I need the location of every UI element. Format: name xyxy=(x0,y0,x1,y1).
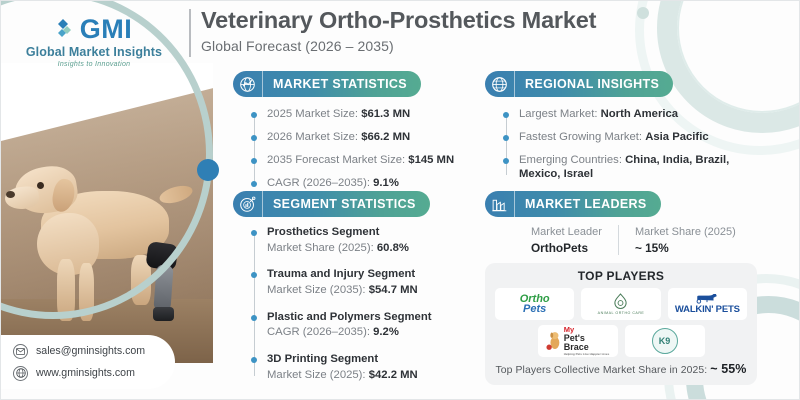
target-chart-icon xyxy=(233,191,263,217)
market-leader-column: Market Leader OrthoPets xyxy=(501,225,618,255)
item-heading: Plastic and Polymers Segment xyxy=(267,310,464,325)
logo-tagline: Insights to Innovation xyxy=(58,61,131,68)
player-logo-animal-ortho-care[interactable]: ANIMAL ORTHO CARE xyxy=(581,288,660,320)
list-item: Fastest Growing Market: Asia Pacific xyxy=(501,130,751,144)
item-label: Fastest Growing Market: xyxy=(519,131,645,143)
player-logo-walkin-pets[interactable]: WALKIN' PETS xyxy=(668,288,747,320)
section-header-market-statistics: MARKET STATISTICS xyxy=(233,71,421,97)
list-item: 2035 Forecast Market Size: $145 MN xyxy=(249,153,464,167)
player-logo-orthopets[interactable]: Ortho Pets xyxy=(495,288,574,320)
column-header: Market Leader xyxy=(531,225,602,239)
item-label: 2025 Market Size: xyxy=(267,108,361,120)
droplet-icon xyxy=(613,293,628,310)
top-players-title: TOP PLAYERS xyxy=(495,269,747,283)
item-value: Asia Pacific xyxy=(645,131,708,143)
contact-email-row[interactable]: sales@gminsights.com xyxy=(13,344,175,359)
market-leaders-table: Market Leader OrthoPets Market Share (20… xyxy=(501,225,752,255)
contact-website-row[interactable]: www.gminsights.com xyxy=(13,366,175,381)
item-label: Largest Market: xyxy=(519,108,601,120)
item-label: Emerging Countries: xyxy=(519,154,625,166)
globe-chart-icon xyxy=(233,71,263,97)
decorative-dot-icon xyxy=(637,7,649,19)
player-logo-caption: WALKIN' PETS xyxy=(675,304,740,315)
section-header-market-leaders: MARKET LEADERS xyxy=(485,191,661,217)
top-players-panel: TOP PLAYERS Ortho Pets ANIMAL ORTHO CARE xyxy=(485,263,757,385)
footer-value: ~ 55% xyxy=(710,362,746,376)
section-header-segment-statistics: SEGMENT STATISTICS xyxy=(233,191,430,217)
top-players-row-1: Ortho Pets ANIMAL ORTHO CARE WALKIN' PET… xyxy=(495,288,747,320)
decorative-blue-dot-icon xyxy=(197,159,219,181)
column-header: Market Share (2025) xyxy=(635,225,736,239)
contact-website: www.gminsights.com xyxy=(36,367,135,379)
item-label: CAGR (2026–2035): xyxy=(267,326,373,338)
column-value: ~ 15% xyxy=(635,241,736,255)
item-label: CAGR (2026–2035): xyxy=(267,177,373,189)
player-logo-k9-orthotics[interactable]: K9 xyxy=(625,325,705,357)
globe-icon xyxy=(485,71,515,97)
gmi-logo: GMI Global Market Insights Insights to I… xyxy=(9,11,179,73)
envelope-icon xyxy=(13,344,28,359)
section-label: REGIONAL INSIGHTS xyxy=(525,77,659,91)
list-item: 2025 Market Size: $61.3 MN xyxy=(249,107,464,121)
player-logo-caption: ANIMAL ORTHO CARE xyxy=(598,311,645,315)
list-item: Emerging Countries: China, India, Brazil… xyxy=(501,153,751,181)
list-item: Prosthetics Segment Market Share (2025):… xyxy=(249,225,464,255)
player-logo-caption: K9 xyxy=(652,328,678,354)
list-item: Plastic and Polymers Segment CAGR (2026–… xyxy=(249,310,464,340)
column-value: OrthoPets xyxy=(531,241,602,255)
item-value: North America xyxy=(601,108,678,120)
player-logo-part2: Pets xyxy=(523,303,546,315)
section-label: MARKET STATISTICS xyxy=(273,77,407,91)
market-statistics-list: 2025 Market Size: $61.3 MN 2026 Market S… xyxy=(249,107,464,190)
item-label: Market Share (2025): xyxy=(267,242,377,254)
item-label: 2035 Forecast Market Size: xyxy=(267,154,408,166)
market-share-column: Market Share (2025) ~ 15% xyxy=(618,225,752,255)
segment-statistics-list: Prosthetics Segment Market Share (2025):… xyxy=(249,225,464,382)
contact-email: sales@gminsights.com xyxy=(36,345,145,357)
item-value: $42.2 MN xyxy=(369,369,418,381)
gmi-diamond-mark-icon xyxy=(56,18,76,42)
item-label: Market Size (2035): xyxy=(267,284,369,296)
player-logo-caption: Helping Pets Live Happier Lives xyxy=(564,353,610,356)
list-item: CAGR (2026–2035): 9.1% xyxy=(249,176,464,190)
item-heading: Prosthetics Segment xyxy=(267,225,464,240)
dog-wheelchair-icon xyxy=(694,293,720,304)
page-title-block: Veterinary Ortho-Prosthetics Market Glob… xyxy=(201,8,596,54)
top-players-footer: Top Players Collective Market Share in 2… xyxy=(495,362,747,376)
footer-label: Top Players Collective Market Share in 2… xyxy=(495,365,710,376)
item-label: 2026 Market Size: xyxy=(267,131,361,143)
item-value: $61.3 MN xyxy=(361,108,410,120)
page-subtitle: Global Forecast (2026 – 2035) xyxy=(201,38,596,54)
item-value: $145 MN xyxy=(408,154,454,166)
section-label: MARKET LEADERS xyxy=(525,197,647,211)
prosthetic-foot xyxy=(153,307,174,321)
list-item: 3D Printing Segment Market Size (2025): … xyxy=(249,352,464,382)
item-value: $66.2 MN xyxy=(361,131,410,143)
item-value: $54.7 MN xyxy=(369,284,418,296)
page-title: Veterinary Ortho-Prosthetics Market xyxy=(201,8,596,34)
top-players-row-2: My Pet's Brace Helping Pets Live Happier… xyxy=(495,325,747,357)
regional-insights-list: Largest Market: North America Fastest Gr… xyxy=(501,107,751,181)
globe-icon xyxy=(13,366,28,381)
infographic-canvas: GMI Global Market Insights Insights to I… xyxy=(0,0,800,400)
item-value: 60.8% xyxy=(377,242,409,254)
item-value: 9.2% xyxy=(373,326,399,338)
item-heading: 3D Printing Segment xyxy=(267,352,464,367)
list-item: 2026 Market Size: $66.2 MN xyxy=(249,130,464,144)
factory-icon xyxy=(485,191,515,217)
logo-abbr: GMI xyxy=(80,16,133,43)
section-label: SEGMENT STATISTICS xyxy=(273,197,416,211)
item-heading: Trauma and Injury Segment xyxy=(267,267,464,282)
list-timeline xyxy=(254,113,256,184)
list-item: Largest Market: North America xyxy=(501,107,751,121)
player-logo-my-pets-brace[interactable]: My Pet's Brace Helping Pets Live Happier… xyxy=(538,325,618,357)
contact-bar: sales@gminsights.com www.gminsights.com xyxy=(0,335,175,389)
section-header-regional-insights: REGIONAL INSIGHTS xyxy=(485,71,673,97)
player-logo-line3: Brace xyxy=(564,342,589,352)
title-divider xyxy=(189,9,191,57)
list-item: Trauma and Injury Segment Market Size (2… xyxy=(249,267,464,297)
item-value: 9.1% xyxy=(373,177,399,189)
dog-illustration-icon xyxy=(546,331,562,351)
logo-company-name: Global Market Insights xyxy=(26,45,162,59)
item-label: Market Size (2025): xyxy=(267,369,369,381)
